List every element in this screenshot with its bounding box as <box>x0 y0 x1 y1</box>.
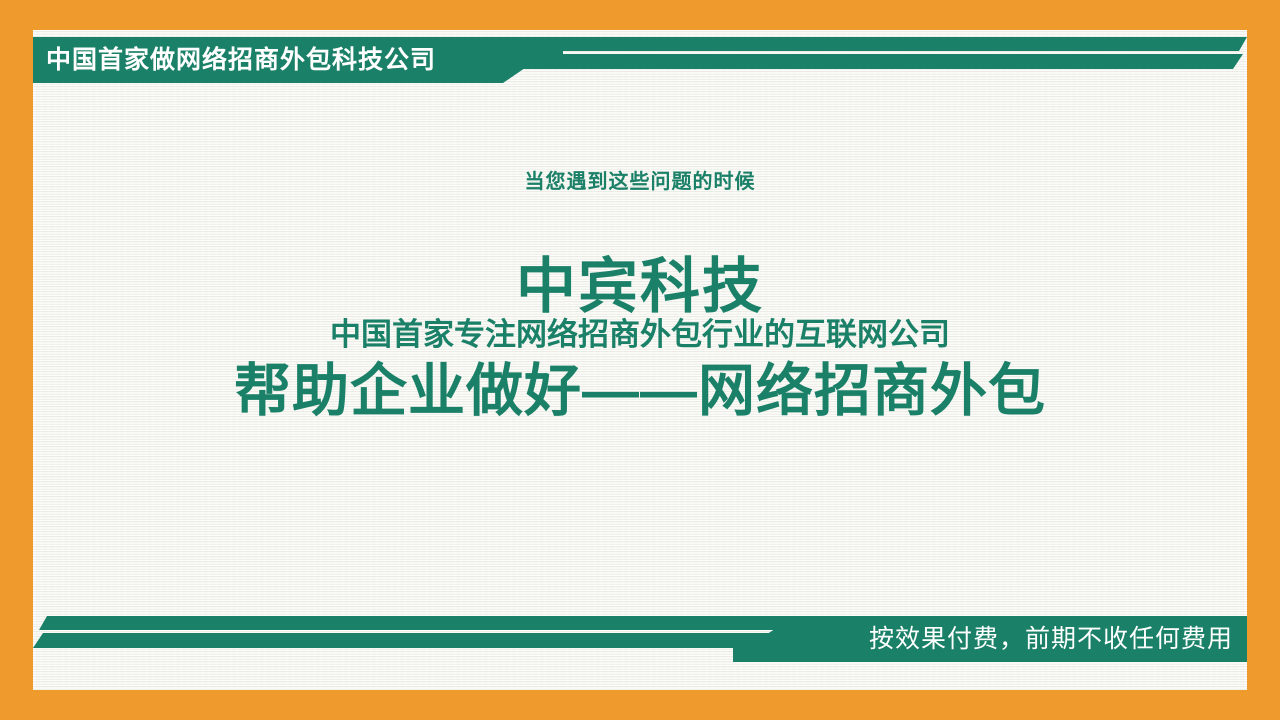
footer-label-block: 按效果付费，前期不收任何费用 <box>733 616 1247 662</box>
brand-title: 中宾科技 <box>33 255 1247 318</box>
header-ribbon-line-top <box>523 37 1247 51</box>
footer-ribbon-line-top <box>39 616 809 630</box>
header-ribbon-line-bottom <box>523 54 1247 69</box>
footer-ribbon-line-bottom <box>33 633 809 648</box>
header-label: 中国首家做网络招商外包科技公司 <box>46 37 436 83</box>
eyebrow-text: 当您遇到这些问题的时候 <box>33 165 1247 194</box>
tagline-text: 帮助企业做好——网络招商外包 <box>33 360 1247 424</box>
presentation-slide: 中国首家做网络招商外包科技公司 当您遇到这些问题的时候 中宾科技 中国首家专注网… <box>0 0 1280 720</box>
brand-subtitle: 中国首家专注网络招商外包行业的互联网公司 <box>33 318 1247 352</box>
footer-ribbon: 按效果付费，前期不收任何费用 <box>33 616 1247 662</box>
header-label-block: 中国首家做网络招商外包科技公司 <box>33 37 563 83</box>
slide-paper-panel: 中国首家做网络招商外包科技公司 当您遇到这些问题的时候 中宾科技 中国首家专注网… <box>33 30 1247 690</box>
header-ribbon: 中国首家做网络招商外包科技公司 <box>33 37 1247 89</box>
footer-label: 按效果付费，前期不收任何费用 <box>869 616 1233 662</box>
